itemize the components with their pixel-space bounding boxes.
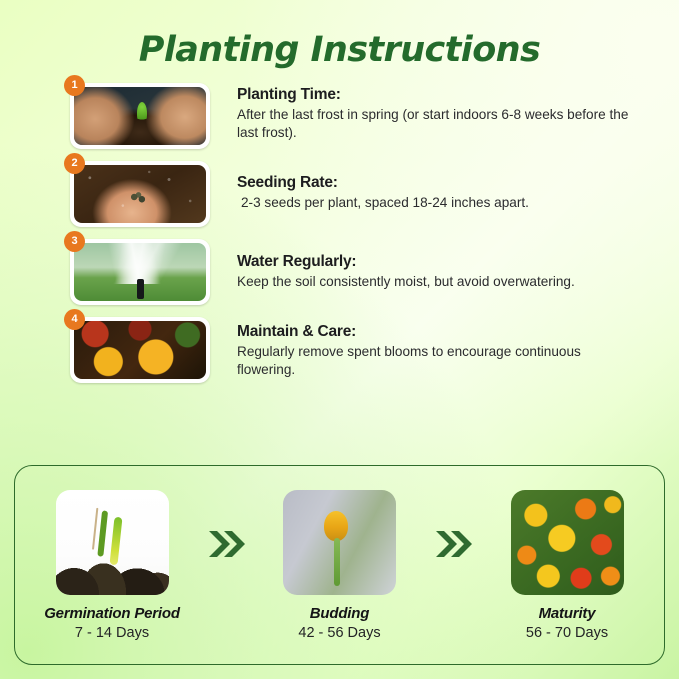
step-description: Keep the soil consistently moist, but av… <box>237 273 575 291</box>
hands-holding-soil-with-sprout-photo <box>74 87 206 145</box>
page-title: Planting Instructions <box>0 0 679 70</box>
step-text-block: Water Regularly: Keep the soil consisten… <box>210 239 575 291</box>
step-number-badge: 4 <box>64 309 85 330</box>
step-thumbnail-2: 2 <box>70 161 210 227</box>
step-thumbnail-3: 3 <box>70 239 210 305</box>
step-title: Maintain & Care: <box>237 323 637 341</box>
step-text-block: Planting Time: After the last frost in s… <box>210 83 637 142</box>
step-number-badge: 1 <box>64 75 85 96</box>
double-chevron-right-icon <box>204 527 248 566</box>
step-text-block: Seeding Rate: 2-3 seeds per plant, space… <box>210 161 529 212</box>
yellow-and-red-flowers-photo <box>74 321 206 379</box>
step-number-badge: 2 <box>64 153 85 174</box>
timeline-stage-germination: Germination Period 7 - 14 Days <box>37 490 187 641</box>
step-title: Seeding Rate: <box>237 174 529 192</box>
timeline-stage-budding: Budding 42 - 56 Days <box>265 490 415 641</box>
hand-holding-seeds-over-soil-photo <box>74 165 206 223</box>
list-item: 2 Seeding Rate: 2-3 seeds per plant, spa… <box>0 161 679 227</box>
step-text-block: Maintain & Care: Regularly remove spent … <box>210 317 637 379</box>
stage-label: Budding <box>265 605 415 622</box>
step-title: Planting Time: <box>237 86 637 104</box>
stage-days: 42 - 56 Days <box>265 625 415 641</box>
seedling-sprouting-from-soil-photo <box>56 490 169 595</box>
step-description: 2-3 seeds per plant, spaced 18-24 inches… <box>237 194 529 212</box>
step-number-badge: 3 <box>64 231 85 252</box>
stage-label: Maturity <box>492 605 642 622</box>
growth-timeline-panel: Germination Period 7 - 14 Days Budding 4… <box>14 465 665 665</box>
step-thumbnail-1: 1 <box>70 83 210 149</box>
list-item: 4 Maintain & Care: Regularly remove spen… <box>0 317 679 383</box>
list-item: 1 Planting Time: After the last frost in… <box>0 83 679 149</box>
step-description: Regularly remove spent blooms to encoura… <box>237 343 637 379</box>
list-item: 3 Water Regularly: Keep the soil consist… <box>0 239 679 305</box>
stage-days: 7 - 14 Days <box>37 625 187 641</box>
double-chevron-right-icon <box>431 527 475 566</box>
planting-steps-list: 1 Planting Time: After the last frost in… <box>0 83 679 383</box>
lawn-sprinkler-watering-photo <box>74 243 206 301</box>
stage-label: Germination Period <box>37 605 187 622</box>
timeline-stage-maturity: Maturity 56 - 70 Days <box>492 490 642 641</box>
field-of-blooming-marigolds-photo <box>511 490 624 595</box>
step-description: After the last frost in spring (or start… <box>237 106 637 142</box>
stage-days: 56 - 70 Days <box>492 625 642 641</box>
step-title: Water Regularly: <box>237 253 575 271</box>
yellow-flower-bud-photo <box>283 490 396 595</box>
step-thumbnail-4: 4 <box>70 317 210 383</box>
